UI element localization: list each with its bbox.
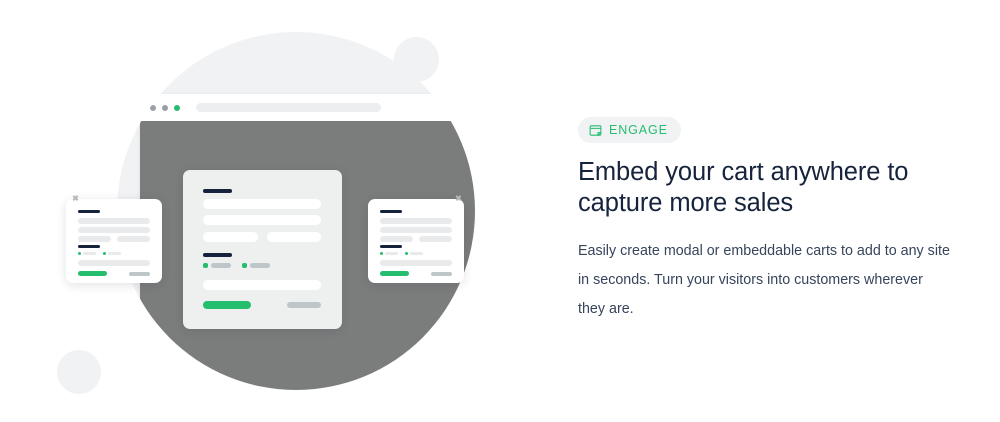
browser-url-bar[interactable] bbox=[196, 103, 381, 112]
browser-window-icon bbox=[589, 124, 602, 137]
mini-cart-input-email[interactable] bbox=[78, 218, 150, 224]
radio-label-express bbox=[250, 263, 270, 268]
mini-cart-checkout-button[interactable] bbox=[78, 271, 107, 276]
cart-cancel-button[interactable] bbox=[287, 302, 321, 308]
mini-cart-heading-contact bbox=[380, 210, 402, 213]
radio-option-icon[interactable] bbox=[103, 252, 106, 255]
card-close-icon-right[interactable]: ✖ bbox=[455, 195, 462, 202]
radio-selected-icon[interactable] bbox=[203, 263, 208, 268]
status-badge: ENGAGE bbox=[578, 117, 681, 143]
feature-description: Easily create modal or embeddable carts … bbox=[578, 237, 950, 324]
embeddable-cart-card-left bbox=[66, 199, 162, 283]
radio-label-express bbox=[108, 252, 121, 255]
mini-cart-heading-shipping bbox=[380, 245, 402, 248]
mini-cart-input-zip[interactable] bbox=[419, 236, 452, 242]
feature-section: ✖ bbox=[0, 0, 1000, 422]
radio-label-express bbox=[410, 252, 423, 255]
traffic-light-maximize-icon bbox=[174, 105, 180, 111]
mini-cart-input-email[interactable] bbox=[380, 218, 452, 224]
mini-cart-cancel-button[interactable] bbox=[431, 272, 452, 276]
radio-label-standard bbox=[385, 252, 398, 255]
cart-input-email[interactable] bbox=[203, 199, 321, 209]
mini-cart-input-address[interactable] bbox=[380, 227, 452, 233]
cart-input-zip[interactable] bbox=[267, 232, 321, 242]
mini-cart-heading-contact bbox=[78, 210, 100, 213]
traffic-light-close-icon bbox=[150, 105, 156, 111]
feature-copy: ENGAGE Embed your cart anywhere to captu… bbox=[578, 0, 958, 422]
cart-input-card-number[interactable] bbox=[203, 280, 321, 290]
mini-cart-shipping-options bbox=[380, 252, 423, 255]
modal-close-icon[interactable]: ✖ bbox=[466, 121, 475, 133]
page-title: Embed your cart anywhere to capture more… bbox=[578, 157, 938, 219]
mini-cart-input-card-number[interactable] bbox=[78, 260, 150, 266]
radio-option-icon[interactable] bbox=[405, 252, 408, 255]
browser-titlebar bbox=[140, 94, 475, 121]
cart-checkout-button[interactable] bbox=[203, 301, 251, 309]
modal-cart-card bbox=[183, 170, 342, 329]
cart-section-heading-contact bbox=[203, 189, 232, 193]
mini-cart-input-address[interactable] bbox=[78, 227, 150, 233]
cart-input-address[interactable] bbox=[203, 215, 321, 225]
mini-cart-input-city[interactable] bbox=[78, 236, 111, 242]
radio-selected-icon[interactable] bbox=[380, 252, 383, 255]
mini-cart-shipping-options bbox=[78, 252, 121, 255]
decorative-circle-bottom-left bbox=[57, 350, 101, 394]
status-badge-label: ENGAGE bbox=[609, 123, 668, 137]
mini-cart-cancel-button[interactable] bbox=[129, 272, 150, 276]
embeddable-cart-card-right bbox=[368, 199, 464, 283]
radio-label-standard bbox=[211, 263, 231, 268]
traffic-light-minimize-icon bbox=[162, 105, 168, 111]
radio-selected-icon[interactable] bbox=[78, 252, 81, 255]
radio-label-standard bbox=[83, 252, 96, 255]
mini-cart-input-card-number[interactable] bbox=[380, 260, 452, 266]
cart-section-heading-shipping bbox=[203, 253, 232, 257]
mini-cart-heading-shipping bbox=[78, 245, 100, 248]
embedded-cart-illustration: ✖ bbox=[0, 0, 520, 422]
mini-cart-checkout-button[interactable] bbox=[380, 271, 409, 276]
mini-cart-input-zip[interactable] bbox=[117, 236, 150, 242]
card-close-icon-left[interactable]: ✖ bbox=[72, 195, 79, 202]
cart-input-city[interactable] bbox=[203, 232, 258, 242]
mini-cart-input-city[interactable] bbox=[380, 236, 413, 242]
cart-shipping-options bbox=[203, 263, 270, 268]
radio-option-icon[interactable] bbox=[242, 263, 247, 268]
